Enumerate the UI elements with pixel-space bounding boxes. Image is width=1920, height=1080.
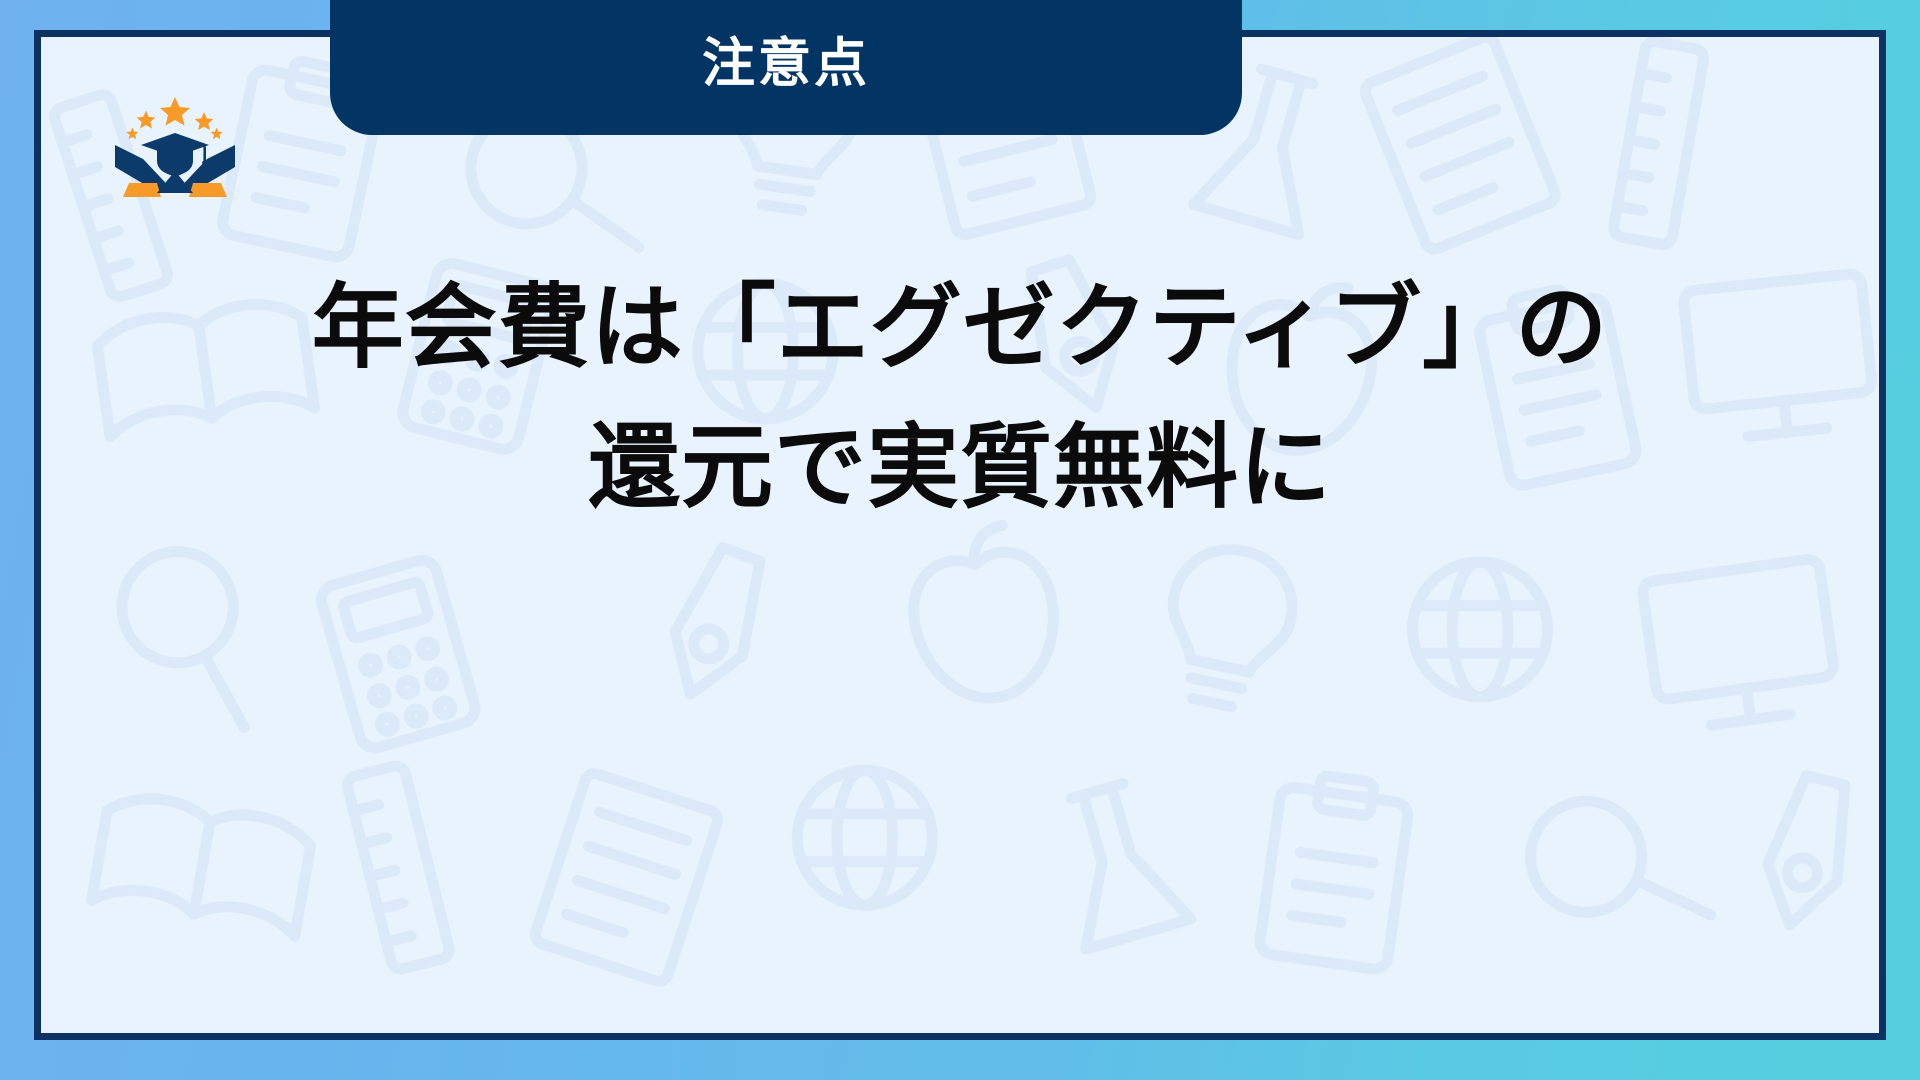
content-card: 年会費は「エグゼクティブ」の 還元で実質無料に [34, 30, 1886, 1040]
slide-stage: 年会費は「エグゼクティブ」の 還元で実質無料に 注意点 [0, 0, 1920, 1080]
headline: 年会費は「エグゼクティブ」の 還元で実質無料に [41, 259, 1879, 539]
section-tab-title: 注意点 [702, 37, 870, 90]
headline-line-2: 還元で実質無料に [151, 399, 1769, 539]
section-tab: 注意点 [330, 0, 1242, 135]
headline-line-1: 年会費は「エグゼクティブ」の [151, 259, 1769, 399]
graduation-education-logo-icon [113, 93, 237, 197]
